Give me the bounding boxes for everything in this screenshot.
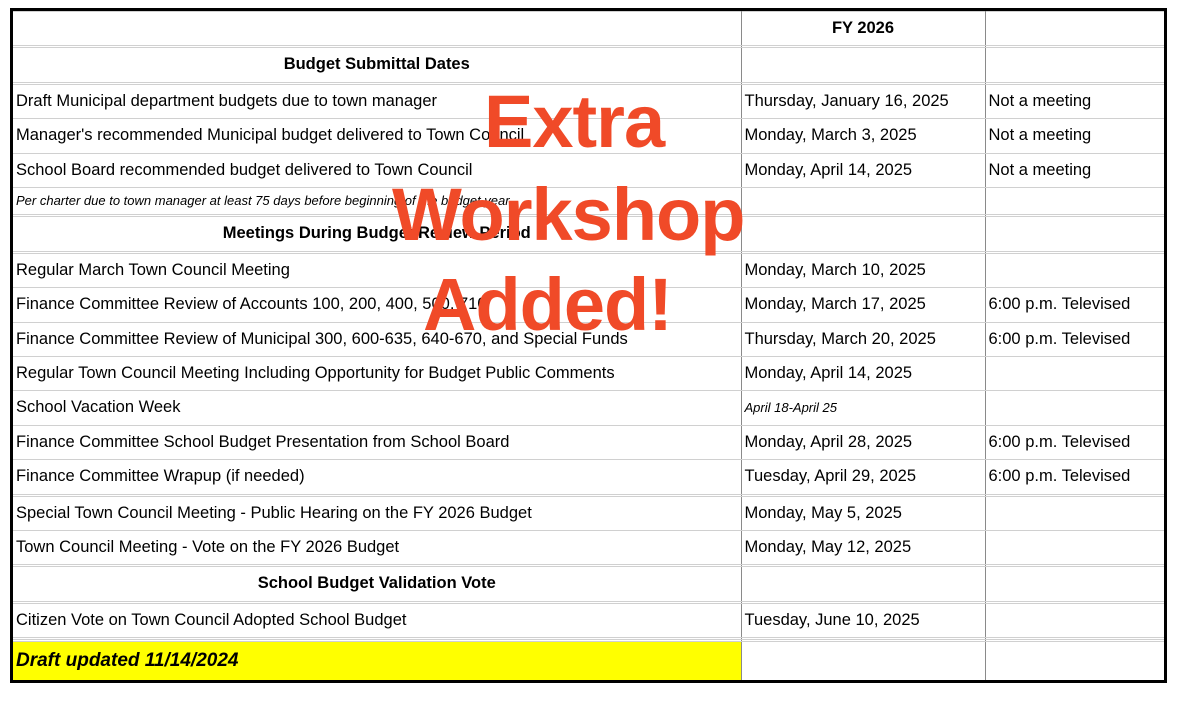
cell-description[interactable]: School Vacation Week [13,391,741,425]
cell-description[interactable]: Budget Submittal Dates [13,48,741,82]
cell-note[interactable]: 6:00 p.m. Televised [985,288,1164,322]
table-row[interactable]: Special Town Council Meeting - Public He… [13,496,1164,530]
cell-description[interactable]: Regular Town Council Meeting Including O… [13,356,741,390]
cell-description[interactable]: Citizen Vote on Town Council Adopted Sch… [13,603,741,637]
table-row[interactable]: Manager's recommended Municipal budget d… [13,119,1164,153]
cell-description[interactable]: School Budget Validation Vote [13,567,741,601]
cell-note[interactable] [985,356,1164,390]
cell-date[interactable]: Monday, May 12, 2025 [741,531,985,565]
cell-note[interactable] [985,603,1164,637]
cell-date[interactable]: FY 2026 [741,12,985,46]
cell-description[interactable]: Finance Committee School Budget Presenta… [13,425,741,459]
cell-note[interactable] [985,48,1164,82]
cell-description[interactable]: Regular March Town Council Meeting [13,253,741,287]
cell-note[interactable]: 6:00 p.m. Televised [985,460,1164,494]
cell-date[interactable] [741,567,985,601]
cell-note[interactable] [985,391,1164,425]
cell-description[interactable]: Per charter due to town manager at least… [13,187,741,215]
cell-date[interactable]: Thursday, March 20, 2025 [741,322,985,356]
cell-note[interactable] [985,187,1164,215]
table-row[interactable]: Finance Committee Wrapup (if needed)Tues… [13,460,1164,494]
cell-date[interactable]: Monday, April 14, 2025 [741,153,985,187]
cell-description[interactable]: Town Council Meeting - Vote on the FY 20… [13,531,741,565]
table-row[interactable]: School Budget Validation Vote [13,567,1164,601]
cell-note[interactable] [985,496,1164,530]
cell-description[interactable]: Finance Committee Review of Municipal 30… [13,322,741,356]
cell-note[interactable] [985,567,1164,601]
cell-date[interactable] [741,48,985,82]
cell-note[interactable] [985,531,1164,565]
cell-note[interactable] [985,641,1164,680]
cell-date[interactable]: Monday, March 17, 2025 [741,288,985,322]
cell-description[interactable]: Manager's recommended Municipal budget d… [13,119,741,153]
table-row[interactable]: Finance Committee Review of Municipal 30… [13,322,1164,356]
cell-description[interactable]: Draft updated 11/14/2024 [13,641,741,680]
spreadsheet-sheet: FY 2026Budget Submittal DatesDraft Munic… [10,8,1167,683]
table-row[interactable]: Regular Town Council Meeting Including O… [13,356,1164,390]
table-row[interactable]: Finance Committee Review of Accounts 100… [13,288,1164,322]
table-row[interactable]: Town Council Meeting - Vote on the FY 20… [13,531,1164,565]
cell-note[interactable] [985,253,1164,287]
table-row[interactable]: Finance Committee School Budget Presenta… [13,425,1164,459]
cell-note[interactable]: 6:00 p.m. Televised [985,322,1164,356]
table-row[interactable]: FY 2026 [13,12,1164,46]
cell-date[interactable]: April 18-April 25 [741,391,985,425]
cell-date[interactable] [741,641,985,680]
cell-note[interactable] [985,217,1164,251]
table-body: FY 2026Budget Submittal DatesDraft Munic… [13,12,1164,681]
cell-date[interactable]: Tuesday, June 10, 2025 [741,603,985,637]
cell-date[interactable]: Monday, May 5, 2025 [741,496,985,530]
table-row[interactable]: Draft updated 11/14/2024 [13,641,1164,680]
table-row[interactable]: School Vacation WeekApril 18-April 25 [13,391,1164,425]
cell-date[interactable]: Monday, March 10, 2025 [741,253,985,287]
cell-description[interactable]: School Board recommended budget delivere… [13,153,741,187]
cell-date[interactable]: Thursday, January 16, 2025 [741,84,985,118]
cell-date[interactable]: Monday, March 3, 2025 [741,119,985,153]
cell-description[interactable]: Meetings During Budget Review Period [13,217,741,251]
cell-note[interactable]: Not a meeting [985,119,1164,153]
cell-note[interactable]: Not a meeting [985,84,1164,118]
cell-note[interactable] [985,12,1164,46]
cell-description[interactable]: Finance Committee Review of Accounts 100… [13,288,741,322]
cell-date[interactable]: Monday, April 14, 2025 [741,356,985,390]
cell-description[interactable]: Draft Municipal department budgets due t… [13,84,741,118]
table-row[interactable]: Citizen Vote on Town Council Adopted Sch… [13,603,1164,637]
cell-note[interactable]: Not a meeting [985,153,1164,187]
cell-date[interactable]: Monday, April 28, 2025 [741,425,985,459]
table-row[interactable]: Meetings During Budget Review Period [13,217,1164,251]
table-row[interactable]: Budget Submittal Dates [13,48,1164,82]
table-row[interactable]: Regular March Town Council MeetingMonday… [13,253,1164,287]
cell-date[interactable]: Tuesday, April 29, 2025 [741,460,985,494]
cell-date[interactable] [741,187,985,215]
cell-description[interactable]: Finance Committee Wrapup (if needed) [13,460,741,494]
cell-note[interactable]: 6:00 p.m. Televised [985,425,1164,459]
cell-description[interactable]: Special Town Council Meeting - Public He… [13,496,741,530]
table-row[interactable]: School Board recommended budget delivere… [13,153,1164,187]
budget-calendar-table: FY 2026Budget Submittal DatesDraft Munic… [13,11,1164,680]
table-row[interactable]: Per charter due to town manager at least… [13,187,1164,215]
cell-description[interactable] [13,12,741,46]
cell-date[interactable] [741,217,985,251]
table-row[interactable]: Draft Municipal department budgets due t… [13,84,1164,118]
